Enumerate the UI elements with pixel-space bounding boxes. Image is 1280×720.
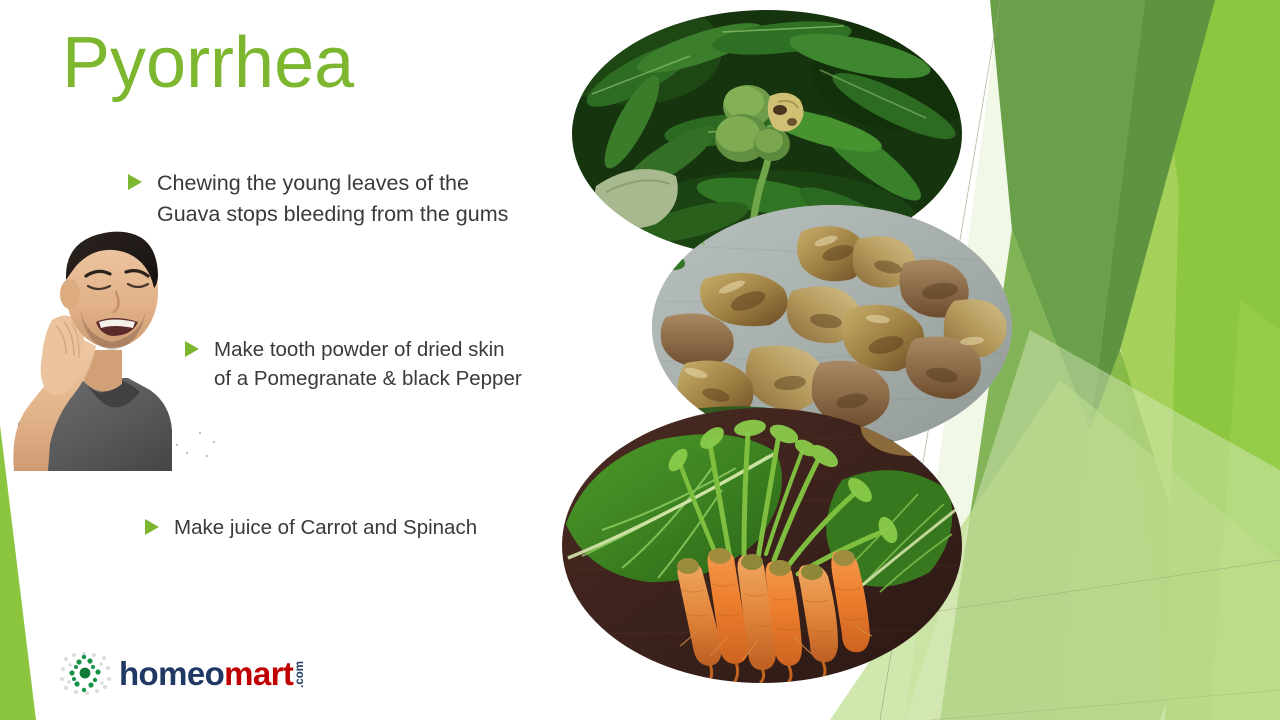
deco-pale-2: [960, 0, 1280, 720]
bullet-text-3: Make juice of Carrot and Spinach: [174, 513, 477, 542]
artifact-speck: [199, 432, 201, 434]
hairline-3: [930, 690, 1280, 720]
deco-mid-2: [1155, 0, 1280, 720]
deco-dark-2: [1090, 0, 1215, 430]
logo-wordmark: homeo mart .com: [119, 657, 307, 690]
slide-canvas: Pyorrhea: [0, 0, 1280, 720]
artifact-speck: [176, 444, 178, 446]
deco-dark-1: [990, 0, 1145, 430]
deco-bright-1: [1180, 0, 1280, 250]
man-with-toothache-photo: [0, 218, 196, 471]
bullet-item-2: Make tooth powder of dried skin of a Pom…: [183, 335, 583, 393]
bullet-item-1: Chewing the young leaves of the Guava st…: [126, 168, 566, 229]
bullet-text-2: Make tooth powder of dried skin of a Pom…: [214, 335, 522, 393]
ear-shape: [60, 279, 80, 309]
triangle-right-icon: [143, 518, 161, 536]
deco-bright-2: [1165, 150, 1280, 720]
logo-word-com: .com: [295, 661, 307, 688]
triangle-right-icon: [183, 340, 201, 358]
artifact-speck: [206, 455, 208, 457]
carrot-spinach-photo: [562, 408, 962, 683]
deco-bright-3: [1210, 300, 1280, 720]
bullet-item-3: Make juice of Carrot and Spinach: [143, 513, 563, 542]
deco-dark-4: [1060, 350, 1200, 720]
deco-pale-3: [1045, 0, 1280, 720]
bullet-text-1: Chewing the young leaves of the Guava st…: [157, 168, 508, 229]
triangle-right-icon: [126, 173, 144, 191]
deco-mid-1: [1070, 0, 1280, 720]
artifact-speck: [186, 452, 188, 454]
page-title: Pyorrhea: [62, 26, 354, 102]
artifact-speck: [213, 441, 215, 443]
homeomart-logo[interactable]: homeo mart .com: [60, 648, 295, 698]
dot-cluster-icon: [60, 651, 112, 695]
logo-word-homeo: homeo: [119, 657, 224, 690]
logo-word-mart: mart: [224, 657, 293, 690]
